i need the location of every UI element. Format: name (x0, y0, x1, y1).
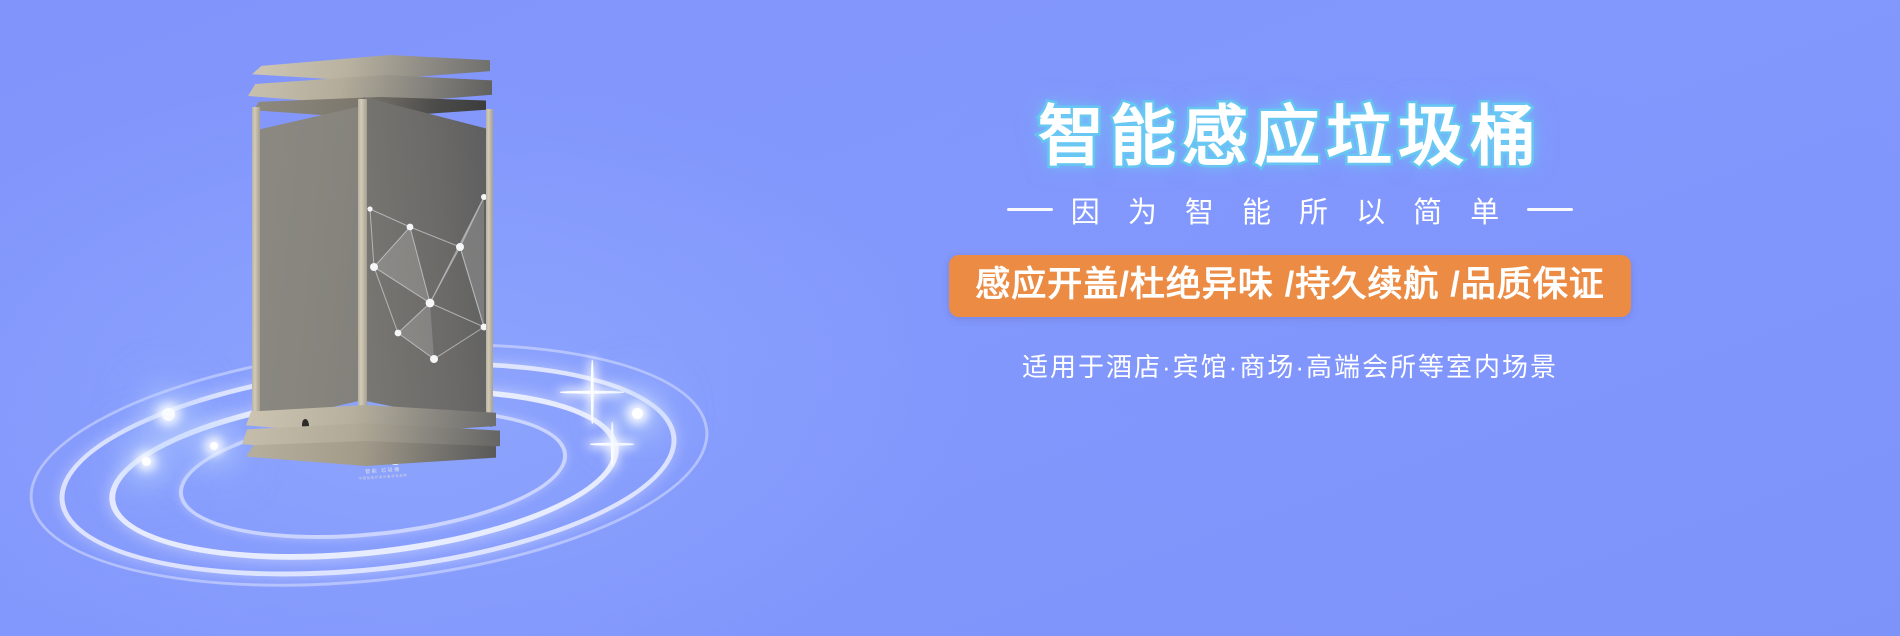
product-image-smart-trash-bin: UF 智能 垃圾桶 中国智能环保设备领导品牌 (240, 55, 500, 445)
banner-text-block: 智能感应垃圾桶 因 为 智 能 所 以 简 单 感应开盖/杜绝异味 /持久续航 … (840, 100, 1740, 384)
banner-subtitle-row: 因 为 智 能 所 以 简 单 (840, 189, 1740, 231)
bin-pillar-right (486, 109, 493, 421)
bin-pillar-center (358, 99, 367, 431)
usage-scenario-text: 适用于酒店·宾馆·商场·高端会所等室内场景 (840, 347, 1740, 384)
glow-dot-right (632, 408, 643, 419)
polygon-network-graphic (364, 97, 492, 427)
product-banner: UF 智能 垃圾桶 中国智能环保设备领导品牌 智能感应垃圾桶 因 为 智 能 所… (0, 0, 1900, 636)
subtitle-rule-right (1527, 208, 1573, 211)
bin-pillar-left (252, 107, 260, 425)
banner-subtitle: 因 为 智 能 所 以 简 单 (1071, 189, 1509, 231)
glow-dot-lower-left (142, 457, 151, 466)
banner-headline: 智能感应垃圾桶 (840, 100, 1740, 173)
bin-face-left (254, 105, 366, 425)
glow-dot-mid-left (210, 442, 218, 450)
subtitle-rule-left (1007, 208, 1053, 211)
bin-face-right-glass (364, 97, 492, 427)
glow-dot-upper-left (162, 408, 175, 421)
feature-highlight-bar: 感应开盖/杜绝异味 /持久续航 /品质保证 (949, 255, 1631, 318)
feature-highlight-text: 感应开盖/杜绝异味 /持久续航 /品质保证 (975, 266, 1605, 305)
